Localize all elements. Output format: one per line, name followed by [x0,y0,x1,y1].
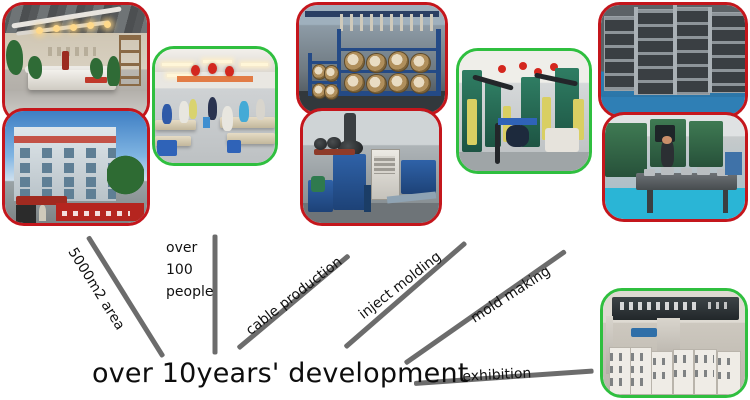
cable-extruder-photo [300,108,442,226]
cable-extruder-image [303,111,439,223]
headline-text: over 10years' development [92,358,469,389]
injection-molding-image [459,51,589,171]
mold-workshop-photo [602,112,748,222]
exhibition-booth-photo [600,288,748,398]
label-people-line2: 100 [166,262,193,278]
mold-workshop-image [605,115,745,219]
office-lobby-image [5,5,147,121]
office-lobby-photo [2,2,150,124]
label-people-line1: over [166,240,197,256]
label-inject-molding: inject molding [356,249,444,323]
label-people-line3: people [166,284,213,300]
factory-building-image [5,111,147,223]
mold-storage-racks-image [601,5,745,115]
factory-building-photo [2,108,150,226]
injection-molding-photo [456,48,592,174]
label-exhibition: exhibition [462,365,532,385]
infographic-canvas: 5000m2 area over 100 people cable produc… [0,0,750,400]
cable-spools-photo [296,2,448,116]
assembly-line-photo [152,46,278,166]
mold-storage-racks-photo [598,2,748,118]
label-mold-making: mold making [468,263,553,326]
assembly-line-image [155,49,275,163]
label-cable-production: cable production [243,254,345,339]
cable-spools-image [299,5,445,113]
exhibition-booth-image [603,291,745,395]
